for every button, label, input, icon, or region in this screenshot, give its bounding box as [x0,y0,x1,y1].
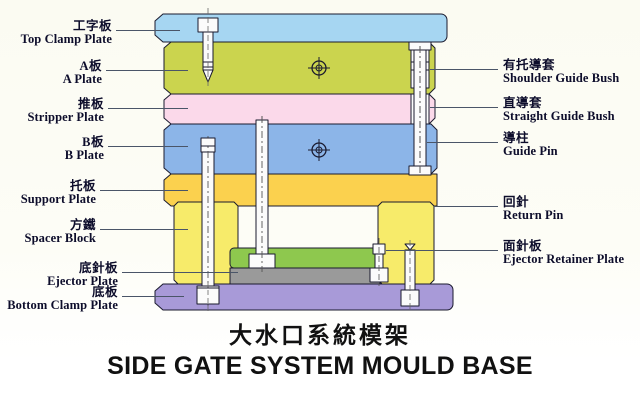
title-chinese: 大水口系統模架 [0,316,640,350]
label-guide-pin: 導柱 Guide Pin [503,132,558,158]
leader-ejector-retainer-plate [386,250,498,251]
leader-spacer-block [100,229,188,230]
leader-guide-pin [427,142,498,143]
label-return-pin: 回針 Return Pin [503,196,563,222]
label-return-pin-en: Return Pin [503,209,563,222]
label-spacer-block-en: Spacer Block [0,232,96,245]
label-b-plate: B板 B Plate [0,136,104,162]
leader-b-plate [108,146,188,147]
label-shoulder-guide-bush-en: Shoulder Guide Bush [503,72,619,85]
leader-shoulder-guide-bush [430,69,498,70]
label-stripper-plate: 推板 Stripper Plate [0,98,104,124]
label-support-plate: 托板 Support Plate [0,180,96,206]
label-support-plate-en: Support Plate [0,193,96,206]
label-a-plate-en: A Plate [0,73,102,86]
leader-a-plate [106,70,188,71]
leader-stripper-plate [108,108,188,109]
leader-support-plate [100,190,188,191]
leader-return-pin [434,206,498,207]
diagram-title: 大水口系統模架 SIDE GATE SYSTEM MOULD BASE [0,316,640,381]
label-shoulder-guide-bush: 有托導套 Shoulder Guide Bush [503,59,619,85]
label-bottom-clamp-plate-en: Bottom Clamp Plate [0,299,118,312]
label-top-clamp-plate-en: Top Clamp Plate [0,33,112,46]
label-ejector-retainer-plate: 面針板 Ejector Retainer Plate [503,240,624,266]
leader-bottom-clamp-plate [122,296,184,297]
leader-straight-guide-bush [430,107,498,108]
plate-ejector [230,268,380,284]
label-spacer-block: 方鐵 Spacer Block [0,219,96,245]
label-ejector-retainer-plate-en: Ejector Retainer Plate [503,253,624,266]
label-straight-guide-bush-en: Straight Guide Bush [503,110,615,123]
label-top-clamp-plate: 工字板 Top Clamp Plate [0,20,112,46]
leader-top-clamp-plate [116,30,180,31]
label-a-plate: A板 A Plate [0,60,102,86]
title-english: SIDE GATE SYSTEM MOULD BASE [0,352,640,381]
plate-stripper [164,94,421,124]
label-bottom-clamp-plate: 底板 Bottom Clamp Plate [0,286,118,312]
diagram-canvas: 工字板 Top Clamp Plate A板 A Plate 推板 Stripp… [0,0,640,410]
label-straight-guide-bush: 直導套 Straight Guide Bush [503,97,615,123]
label-guide-pin-en: Guide Pin [503,145,558,158]
label-b-plate-en: B Plate [0,149,104,162]
b-plate-bolt-head [201,138,215,146]
label-stripper-plate-en: Stripper Plate [0,111,104,124]
leader-ejector-plate [122,272,238,273]
